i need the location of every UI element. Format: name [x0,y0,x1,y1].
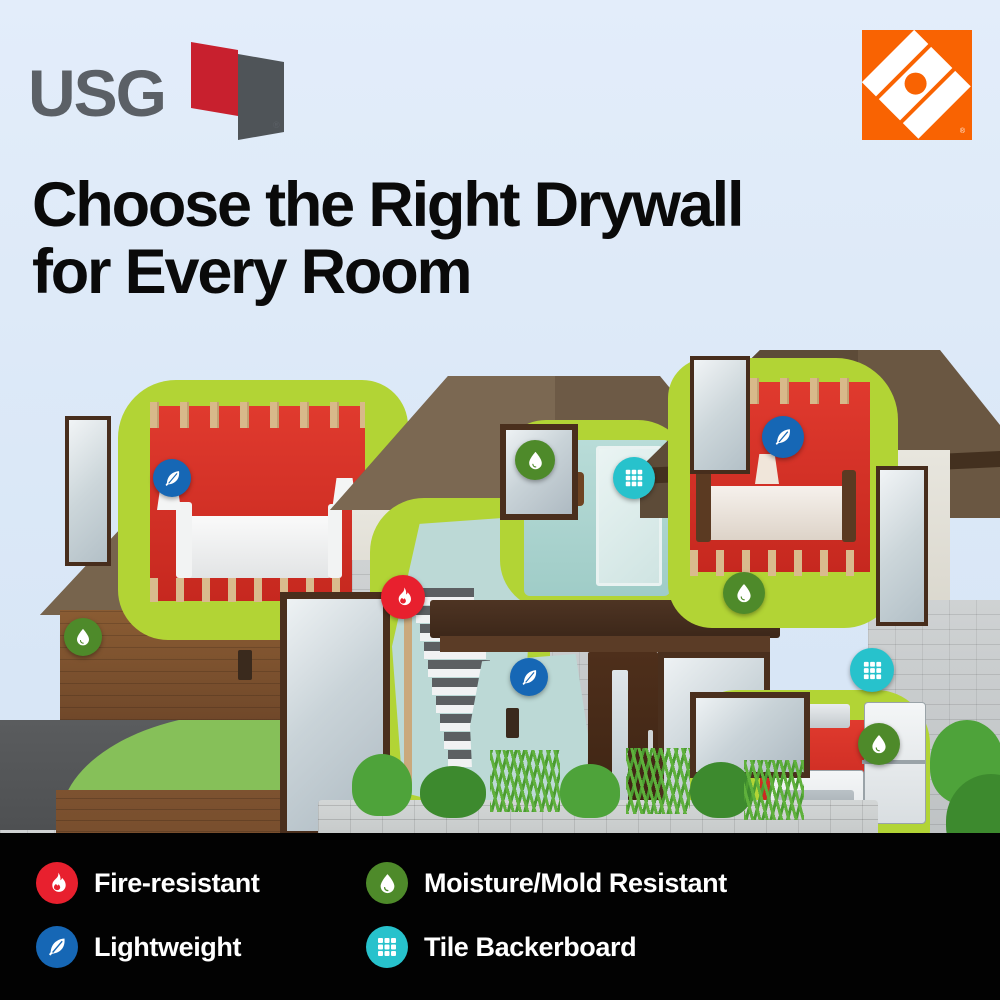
bedroom-right-headboard [696,466,711,542]
feather-icon [772,426,794,448]
legend-item-moisture-mold-resistant[interactable]: Moisture/Mold Resistant [366,862,966,904]
bedroom-right-floor-joists [690,550,870,576]
legend-label-fire-resistant: Fire-resistant [94,868,259,899]
house-illustration [0,320,1000,840]
legend-label-tile-backerboard: Tile Backerboard [424,932,636,963]
entry-sconce-left [238,650,252,680]
entry-sconce-right [506,708,519,738]
legend-item-tile-backerboard[interactable]: Tile Backerboard [366,926,966,968]
legend-bar: Fire-resistant Moisture/Mold Resistant [0,833,1000,1000]
infographic-poster: USG ® ® Choose the Right Drywall for Eve… [0,0,1000,1000]
marker-moisture-garage[interactable] [64,618,102,656]
bush-2 [420,766,486,818]
feather-icon [36,926,78,968]
feather-icon [519,667,540,688]
legend-label-lightweight: Lightweight [94,932,241,963]
tile-grid-icon [623,467,645,489]
window-right-wing-upper [876,466,928,626]
legend-grid: Fire-resistant Moisture/Mold Resistant [36,851,966,979]
bedroom-right-footboard [842,470,856,542]
droplet-icon [868,733,890,755]
grass-clump-3 [744,760,804,820]
marker-moisture-laundry[interactable] [858,723,900,765]
bedroom-left-bed [182,516,332,578]
marker-lightweight-bedroom-right[interactable] [762,416,804,458]
home-depot-logo: ® [862,30,972,140]
marker-lightweight-bedroom-left[interactable] [153,459,191,497]
window-left-wing-upper [65,416,111,566]
grass-clump-1 [490,750,560,812]
home-depot-registered-mark: ® [960,128,965,135]
marker-moisture-bathroom[interactable] [515,440,555,480]
marker-fire-stairwell[interactable] [381,575,425,619]
page-title: Choose the Right Drywall for Every Room [32,172,872,307]
usg-wordmark: USG [28,60,165,126]
droplet-icon [73,627,93,647]
droplet-icon [733,582,755,604]
grass-clump-2 [626,748,690,814]
bedroom-left-footboard [328,504,342,578]
bedroom-right-bed [700,486,850,540]
droplet-icon [525,450,546,471]
marker-tile-shower[interactable] [613,457,655,499]
feather-icon [162,468,183,489]
usg-logo-mark [176,40,288,142]
bush-1 [352,754,412,816]
tile-grid-icon [861,659,884,682]
usg-registered-mark: ® [273,120,280,130]
porch-beam-shadow [440,636,770,652]
legend-item-lightweight[interactable]: Lightweight [36,926,366,968]
flame-icon [392,586,414,608]
bush-3 [560,764,620,818]
flame-icon [36,862,78,904]
marker-moisture-kitchen[interactable] [723,572,765,614]
marker-tile-kitchen[interactable] [850,648,894,692]
usg-logo: USG ® [28,38,288,143]
bush-4 [690,762,752,818]
home-depot-logo-mark [862,30,972,140]
tile-grid-icon [366,926,408,968]
marker-lightweight-entry[interactable] [510,658,548,696]
window-right-wing-top [690,356,750,474]
legend-item-fire-resistant[interactable]: Fire-resistant [36,862,366,904]
legend-label-moisture-mold-resistant: Moisture/Mold Resistant [424,868,727,899]
bedroom-left-headboard [176,502,192,578]
droplet-icon [366,862,408,904]
